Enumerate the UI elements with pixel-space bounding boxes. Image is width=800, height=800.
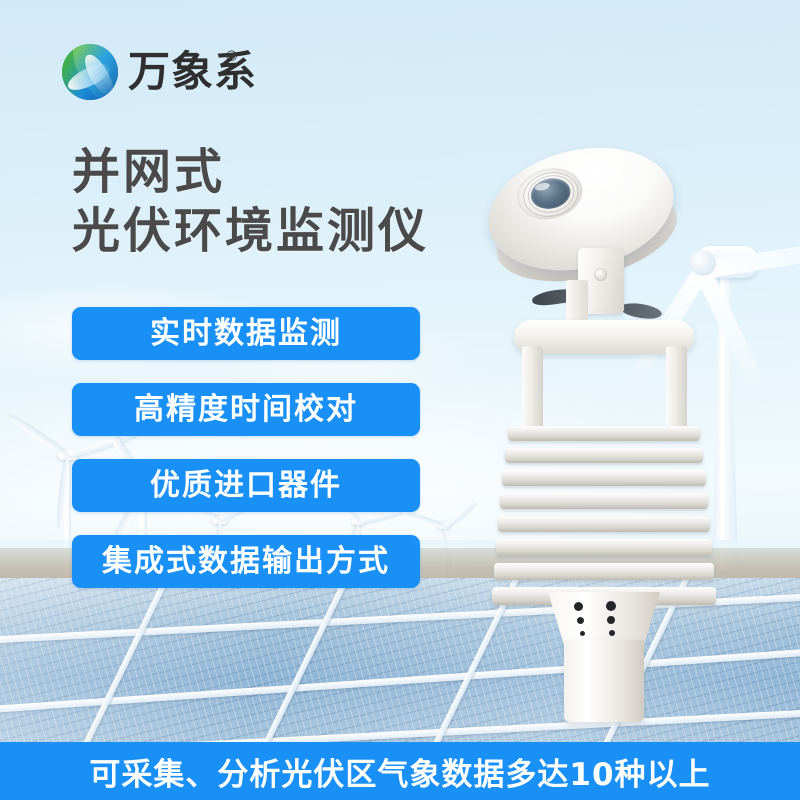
vent-hole-icon [607, 616, 615, 624]
mounting-base-icon [548, 592, 660, 644]
title-line-2: 光伏环境监测仪 [72, 202, 429, 261]
product-poster: 万象系 ® 并网式 光伏环境监测仪 实时数据监测 高精度时间校对 优质进口器件 … [0, 0, 800, 800]
arch-leg [666, 346, 687, 430]
bracket-knob-icon [594, 268, 607, 281]
footer-text: 可采集、分析光伏区气象数据多达10种以上 [89, 749, 710, 794]
feature-badge-4-label: 集成式数据输出方式 [102, 545, 390, 579]
feature-badge-1[interactable]: 实时数据监测 [72, 307, 420, 360]
arch-leg [522, 346, 543, 430]
feature-badge-3-label: 优质进口器件 [150, 469, 342, 503]
feature-badge-3[interactable]: 优质进口器件 [72, 459, 420, 512]
feature-badge-2[interactable]: 高精度时间校对 [72, 383, 420, 436]
feature-badge-4[interactable]: 集成式数据输出方式 [72, 535, 420, 588]
title-line-1: 并网式 [72, 143, 429, 202]
feature-badge-2-label: 高精度时间校对 [134, 393, 358, 427]
brand-name: 万象系 [128, 46, 257, 98]
page-title: 并网式 光伏环境监测仪 [72, 143, 429, 261]
registered-trademark-icon: ® [226, 48, 237, 65]
feature-badge-1-label: 实时数据监测 [150, 317, 342, 351]
product-image [470, 140, 730, 700]
brand-logo: 万象系 ® [62, 40, 262, 104]
vent-hole-icon [574, 602, 583, 611]
vent-hole-icon [609, 630, 615, 636]
globe-swirl-icon [62, 44, 118, 100]
vent-hole-icon [577, 617, 584, 624]
footer-banner: 可采集、分析光伏区气象数据多达10种以上 [0, 742, 800, 800]
vent-hole-icon [580, 631, 585, 636]
vent-hole-icon [606, 601, 616, 611]
mounting-tube [564, 640, 644, 722]
bracket-shadow [619, 301, 663, 321]
